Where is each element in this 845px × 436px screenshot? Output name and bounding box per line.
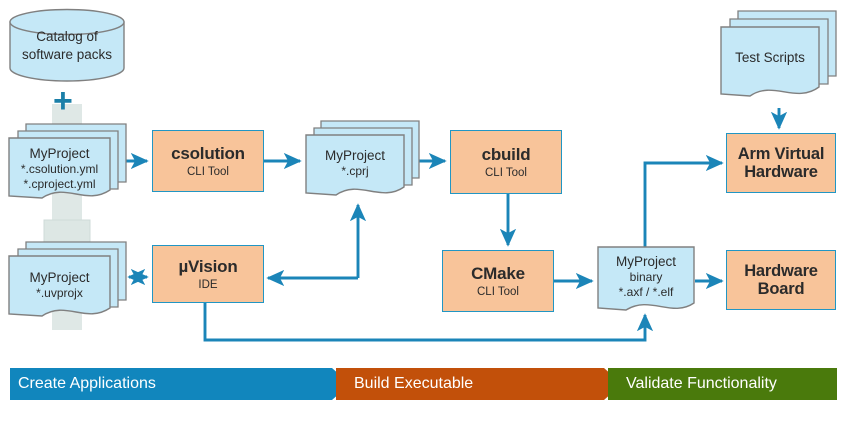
document-project-uvprojx: MyProject *.uvprojx	[6, 238, 130, 326]
plus-icon: +	[53, 84, 73, 118]
process-uvision-kind: IDE	[198, 279, 217, 291]
process-csolution-title: csolution	[171, 144, 245, 163]
avh-line1: Arm Virtual	[738, 145, 824, 163]
document-project-yml: MyProject *.csolution.yml *.cproject.yml	[6, 120, 130, 208]
process-uvision-title: µVision	[178, 257, 237, 276]
stage-banner: Create Applications Build Executable Val…	[10, 368, 837, 400]
process-arm-virtual-hardware[interactable]: Arm Virtual Hardware	[726, 133, 836, 193]
process-cbuild-title: cbuild	[482, 145, 531, 164]
process-cmake-kind: CLI Tool	[477, 286, 519, 298]
document-binary: MyProject binary *.axf / *.elf	[596, 245, 700, 321]
process-cbuild-kind: CLI Tool	[485, 167, 527, 179]
flow-diagram: Catalog of software packs + MyProject *.…	[0, 0, 845, 436]
board-line1: Hardware	[744, 262, 818, 280]
process-cmake[interactable]: CMake CLI Tool	[442, 250, 554, 312]
process-csolution[interactable]: csolution CLI Tool	[152, 130, 264, 192]
catalog-label: Catalog of software packs	[8, 28, 126, 64]
stage-shape-create[interactable]	[10, 368, 350, 400]
process-cmake-title: CMake	[471, 264, 525, 283]
wire-binary-to-avh	[645, 163, 722, 250]
avh-line2: Hardware	[744, 163, 818, 181]
stage-shape-validate[interactable]	[608, 368, 837, 400]
catalog-cylinder: Catalog of software packs	[8, 8, 126, 82]
process-csolution-kind: CLI Tool	[187, 166, 229, 178]
board-line2: Board	[758, 280, 805, 298]
wire-uvision-to-binary	[205, 302, 645, 340]
document-project-cprj: MyProject *.cprj	[303, 118, 423, 208]
process-cbuild[interactable]: cbuild CLI Tool	[450, 130, 562, 194]
stage-shape-build[interactable]	[336, 368, 622, 400]
process-hardware-board[interactable]: Hardware Board	[726, 250, 836, 310]
document-test-scripts: Test Scripts	[718, 8, 840, 112]
process-uvision[interactable]: µVision IDE	[152, 245, 264, 303]
